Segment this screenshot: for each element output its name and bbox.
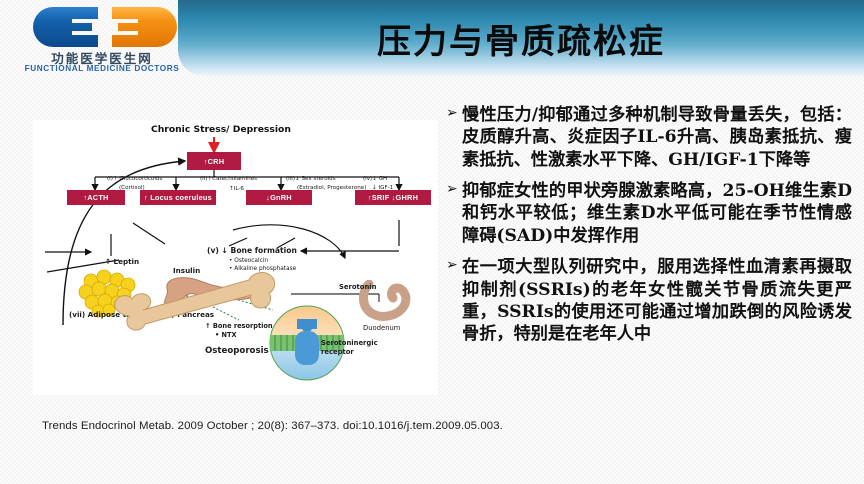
page-title: 压力与骨质疏松症: [178, 8, 864, 68]
diagram-label-osteoporosis: Osteoporosis: [205, 346, 269, 356]
bullet-text-2: 抑郁症女性的甲状旁腺激素略高，25-OH维生素D和钙水平较低；维生素D水平低可能…: [462, 181, 852, 246]
bullet-text-1: 慢性压力/抑郁通过多种机制导致骨量丢失，包括：皮质醇升高、炎症因子IL-6升高、…: [462, 105, 852, 170]
bullet-item-1: ➢ 慢性压力/抑郁通过多种机制导致骨量丢失，包括：皮质醇升高、炎症因子IL-6升…: [446, 104, 852, 171]
bullet-arrow-icon: ➢: [446, 180, 458, 198]
diagram-label-estradiol: (Estradiol, Progesterone): [297, 185, 366, 191]
diagram-label-catecholamines: (ii)↑Catecholamines: [200, 176, 257, 182]
diagram-label-ntx: • NTX: [215, 331, 237, 339]
diagram-box-gnrh: ↓GnRH: [246, 190, 312, 205]
diagram-label-serotoninergic: Serotoninergic: [321, 339, 378, 347]
slide-canvas: 压力与骨质疏松症: [0, 0, 864, 484]
bullet-item-2: ➢ 抑郁症女性的甲状旁腺激素略高，25-OH维生素D和钙水平较低；维生素D水平低…: [446, 180, 852, 247]
citation-text: Trends Endocrinol Metab. 2009 October ; …: [42, 420, 503, 432]
diagram-box-locus-coeruleus: ↑ Locus coeruleus: [140, 190, 216, 205]
diagram-box-acth: ↑ACTH: [67, 190, 125, 205]
bullet-item-3: ➢ 在一项大型队列研究中，服用选择性血清素再摄取抑制剂(SSRIs)的老年女性髋…: [446, 256, 852, 345]
diagram-label-duodenum: Duodenum: [363, 324, 400, 332]
logo-mark-icon: [32, 6, 178, 48]
bullet-arrow-icon: ➢: [446, 256, 458, 274]
diagram-label-bone-formation: (v) ↓ Bone formation: [207, 246, 297, 255]
bullet-list: ➢ 慢性压力/抑郁通过多种机制导致骨量丢失，包括：皮质醇升高、炎症因子IL-6升…: [446, 104, 852, 355]
pathway-diagram: Chronic Stress/ Depression ↑CRH ↑ACTH ↑ …: [33, 120, 438, 395]
diagram-label-sex-steroids: (iii)↓ Sex steroids: [286, 176, 336, 182]
diagram-label-il6: ↑IL-6: [229, 186, 244, 192]
diagram-label-receptor: receptor: [321, 348, 354, 356]
figure-panel: Chronic Stress/ Depression ↑CRH ↑ACTH ↑ …: [33, 120, 438, 395]
diagram-label-leptin: ↑ Leptin: [105, 257, 139, 266]
diagram-label-bone-resorption: ↑ Bone resorption: [205, 322, 273, 330]
brand-logo: 功能医学医生网 FUNCTIONAL MEDICINE DOCTORS: [22, 6, 182, 80]
diagram-stress-title: Chronic Stress/ Depression: [151, 124, 291, 135]
diagram-label-glucocorticoids: (i)↑ Glucocorticoids: [107, 176, 162, 182]
diagram-label-cortisol: (Cortisol): [119, 185, 145, 191]
bullet-arrow-icon: ➢: [446, 104, 458, 122]
diagram-label-igf1: ↓ IGF-1: [372, 185, 393, 191]
logo-en-text: FUNCTIONAL MEDICINE DOCTORS: [22, 64, 182, 73]
diagram-box-srif-ghrh: ↑SRIF ↓GHRH: [355, 190, 431, 205]
diagram-box-crh: ↑CRH: [187, 152, 241, 170]
diagram-label-serotonin: Serotonin: [339, 283, 376, 291]
diagram-label-gh: (iv)↓ GH: [363, 176, 387, 182]
diagram-label-osteocalcin: • Osteocalcin: [229, 258, 268, 264]
bullet-text-3: 在一项大型队列研究中，服用选择性血清素再摄取抑制剂(SSRIs)的老年女性髋关节…: [462, 257, 852, 344]
